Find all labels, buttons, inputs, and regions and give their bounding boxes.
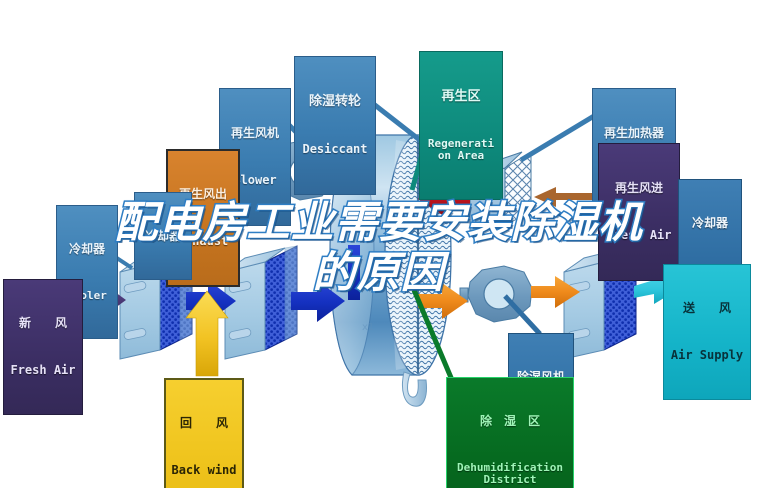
label-air-supply-cn: 送 风 xyxy=(666,302,748,315)
label-cooler-left-a-cn: 冷却器 xyxy=(59,243,115,256)
label-regeneration-blower-cn: 再生风机 xyxy=(222,127,288,140)
label-fresh-air-inlet[interactable]: 新 风 Fresh Air xyxy=(3,279,83,415)
label-air-supply[interactable]: 送 风 Air Supply xyxy=(663,264,751,400)
label-air-supply-en: Air Supply xyxy=(666,349,748,362)
label-dehumidification-district-en: Dehumidification District xyxy=(449,462,571,486)
label-fresh-air-inlet-cn: 新 风 xyxy=(6,317,80,330)
label-back-wind-cn: 回 风 xyxy=(168,417,240,430)
label-dehumidification-district-cn: 除 湿 区 xyxy=(449,415,571,428)
label-regeneration-heater-cn: 再生加热器 xyxy=(595,127,673,140)
label-regeneration-fresh-air-cn: 再生风进 xyxy=(601,182,677,195)
label-cooler-left-b[interactable]: 冷却器 xyxy=(134,192,192,280)
svg-text:x1: x1 xyxy=(362,322,374,333)
label-regeneration-fresh-air[interactable]: 再生风进 Fresh Air xyxy=(598,143,680,281)
label-regeneration-area-en: Regenerati on Area xyxy=(422,138,500,162)
label-fresh-air-inlet-en: Fresh Air xyxy=(6,364,80,377)
label-desiccant-wheel-en: Desiccant xyxy=(297,143,373,156)
label-dehumidification-district[interactable]: 除 湿 区 Dehumidification District xyxy=(446,377,574,488)
label-regeneration-fresh-air-en: Fresh Air xyxy=(601,229,677,242)
label-desiccant-wheel[interactable]: 除湿转轮 Desiccant xyxy=(294,56,376,195)
condensate-drain xyxy=(402,372,426,406)
label-regeneration-area-cn: 再生区 xyxy=(422,90,500,104)
label-desiccant-wheel-cn: 除湿转轮 xyxy=(297,95,373,109)
label-back-wind[interactable]: 回 风 Back wind xyxy=(164,378,244,488)
label-cooler-left-b-cn: 冷却器 xyxy=(137,230,189,243)
diagram-canvas: x1 xyxy=(0,0,757,488)
arrow-process-vertical xyxy=(348,245,360,300)
label-regeneration-area[interactable]: 再生区 Regenerati on Area xyxy=(419,51,503,200)
label-cooler-right-cn: 冷却器 xyxy=(681,217,739,230)
label-back-wind-en: Back wind xyxy=(168,464,240,477)
